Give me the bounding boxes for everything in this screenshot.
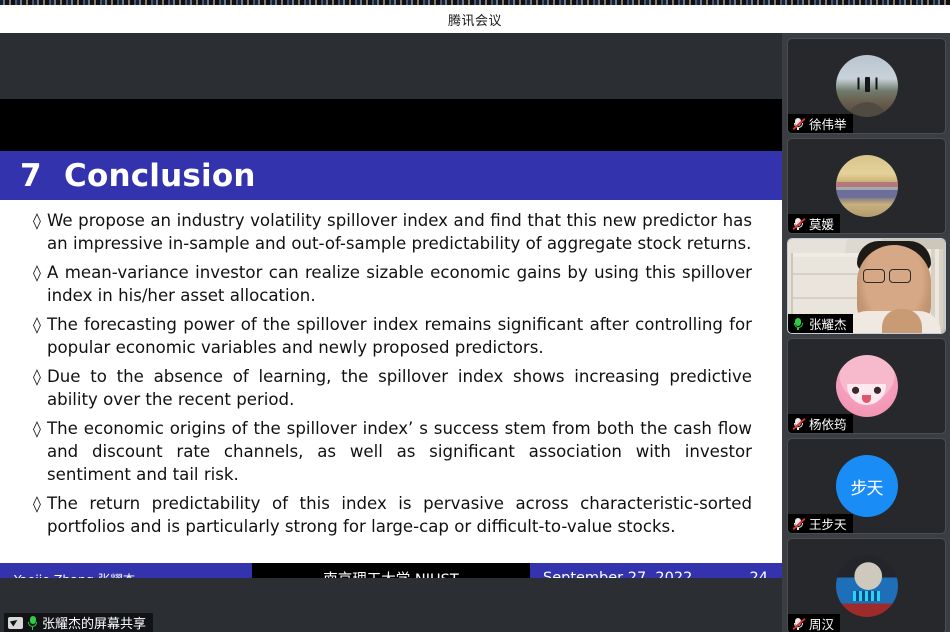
bullet-text: The return predictability of this index … bbox=[47, 492, 752, 538]
participant-tile[interactable]: 张耀杰 bbox=[787, 238, 946, 334]
participant-name: 杨依筠 bbox=[809, 414, 847, 433]
slide-footer-author: Yaojie Zhang 张耀杰 bbox=[0, 563, 252, 578]
affiliation-name: 南京理工大学 NJUST bbox=[323, 568, 458, 579]
diamond-bullet-icon: ◊ bbox=[33, 262, 47, 284]
participant-name-chip: 杨依筠 bbox=[788, 414, 853, 433]
participant-name-chip: 张耀杰 bbox=[788, 314, 853, 333]
mic-muted-icon bbox=[792, 217, 805, 231]
avatar-initials: 步天 bbox=[851, 474, 883, 499]
mic-muted-icon bbox=[792, 517, 805, 531]
slide-title-bar: 7 Conclusion bbox=[0, 151, 782, 200]
participant-tile[interactable]: 周汉 bbox=[787, 538, 946, 632]
shared-screen-stage[interactable]: 7 Conclusion ◊ We propose an industry vo… bbox=[0, 33, 782, 578]
slide-top-band bbox=[0, 33, 782, 99]
diamond-bullet-icon: ◊ bbox=[33, 366, 47, 388]
avatar bbox=[836, 155, 898, 217]
mic-muted-icon bbox=[792, 617, 805, 631]
avatar bbox=[836, 55, 898, 117]
slide-footer-meta: September 27, 2022 24 bbox=[530, 563, 782, 578]
diamond-bullet-icon: ◊ bbox=[33, 418, 47, 440]
slide-section-number: 7 bbox=[20, 158, 64, 194]
slide-page-number: 24 bbox=[750, 570, 768, 578]
list-item: ◊ Due to the absence of learning, the sp… bbox=[33, 365, 752, 411]
participant-tile[interactable]: 莫媛 bbox=[787, 138, 946, 234]
list-item: ◊ The economic origins of the spillover … bbox=[33, 417, 752, 486]
list-item: ◊ We propose an industry volatility spil… bbox=[33, 209, 752, 255]
participant-tile[interactable]: 步天 王步天 bbox=[787, 438, 946, 534]
slide-footer-affiliation: 南京理工大学 NJUST bbox=[252, 563, 530, 578]
slide-black-gap bbox=[0, 99, 782, 151]
participant-name-chip: 徐伟举 bbox=[788, 114, 853, 133]
participant-name: 徐伟举 bbox=[809, 114, 847, 133]
participant-name-chip: 莫媛 bbox=[788, 214, 840, 233]
participant-tile[interactable]: 杨依筠 bbox=[787, 338, 946, 434]
participant-name-chip: 王步天 bbox=[788, 514, 853, 533]
participant-rail[interactable]: 徐伟举 莫媛 bbox=[782, 33, 950, 632]
avatar bbox=[836, 555, 898, 617]
participant-tile[interactable]: 徐伟举 bbox=[787, 38, 946, 134]
meeting-window: 腾讯会议 7 Conclusion ◊ We propose an indust… bbox=[0, 0, 950, 632]
participant-name: 张耀杰 bbox=[809, 314, 847, 333]
bullet-text: The forecasting power of the spillover i… bbox=[47, 313, 752, 359]
bullet-text: The economic origins of the spillover in… bbox=[47, 417, 752, 486]
slide-body: ◊ We propose an industry volatility spil… bbox=[0, 200, 782, 563]
list-item: ◊ The return predictability of this inde… bbox=[33, 492, 752, 538]
presentation-slide: 7 Conclusion ◊ We propose an industry vo… bbox=[0, 33, 782, 578]
list-item: ◊ The forecasting power of the spillover… bbox=[33, 313, 752, 359]
participant-name: 莫媛 bbox=[809, 214, 834, 233]
avatar bbox=[836, 355, 898, 417]
diamond-bullet-icon: ◊ bbox=[33, 314, 47, 336]
author-name: Yaojie Zhang 张耀杰 bbox=[14, 569, 135, 579]
avatar: 步天 bbox=[836, 455, 898, 517]
diamond-bullet-icon: ◊ bbox=[33, 493, 47, 515]
mic-muted-icon bbox=[792, 417, 805, 431]
participant-name: 王步天 bbox=[809, 514, 847, 533]
app-titlebar: 腾讯会议 bbox=[0, 5, 950, 33]
mic-on-icon bbox=[28, 616, 37, 630]
app-title: 腾讯会议 bbox=[448, 10, 502, 29]
bullet-text: Due to the absence of learning, the spil… bbox=[47, 365, 752, 411]
bullet-text: A mean-variance investor can realize siz… bbox=[47, 261, 752, 307]
bullet-text: We propose an industry volatility spillo… bbox=[47, 209, 752, 255]
mic-on-icon bbox=[792, 317, 805, 331]
mic-muted-icon bbox=[792, 117, 805, 131]
screen-share-icon bbox=[8, 617, 23, 629]
slide-footer: Yaojie Zhang 张耀杰 南京理工大学 NJUST September … bbox=[0, 563, 782, 578]
diamond-bullet-icon: ◊ bbox=[33, 210, 47, 232]
slide-date: September 27, 2022 bbox=[543, 570, 692, 578]
screen-share-label: 张耀杰的屏幕共享 bbox=[42, 613, 146, 632]
slide-heading: Conclusion bbox=[64, 158, 256, 194]
participant-name: 周汉 bbox=[809, 614, 834, 632]
list-item: ◊ A mean-variance investor can realize s… bbox=[33, 261, 752, 307]
participant-name-chip: 周汉 bbox=[788, 614, 840, 632]
screen-share-status-badge[interactable]: 张耀杰的屏幕共享 bbox=[4, 613, 153, 632]
